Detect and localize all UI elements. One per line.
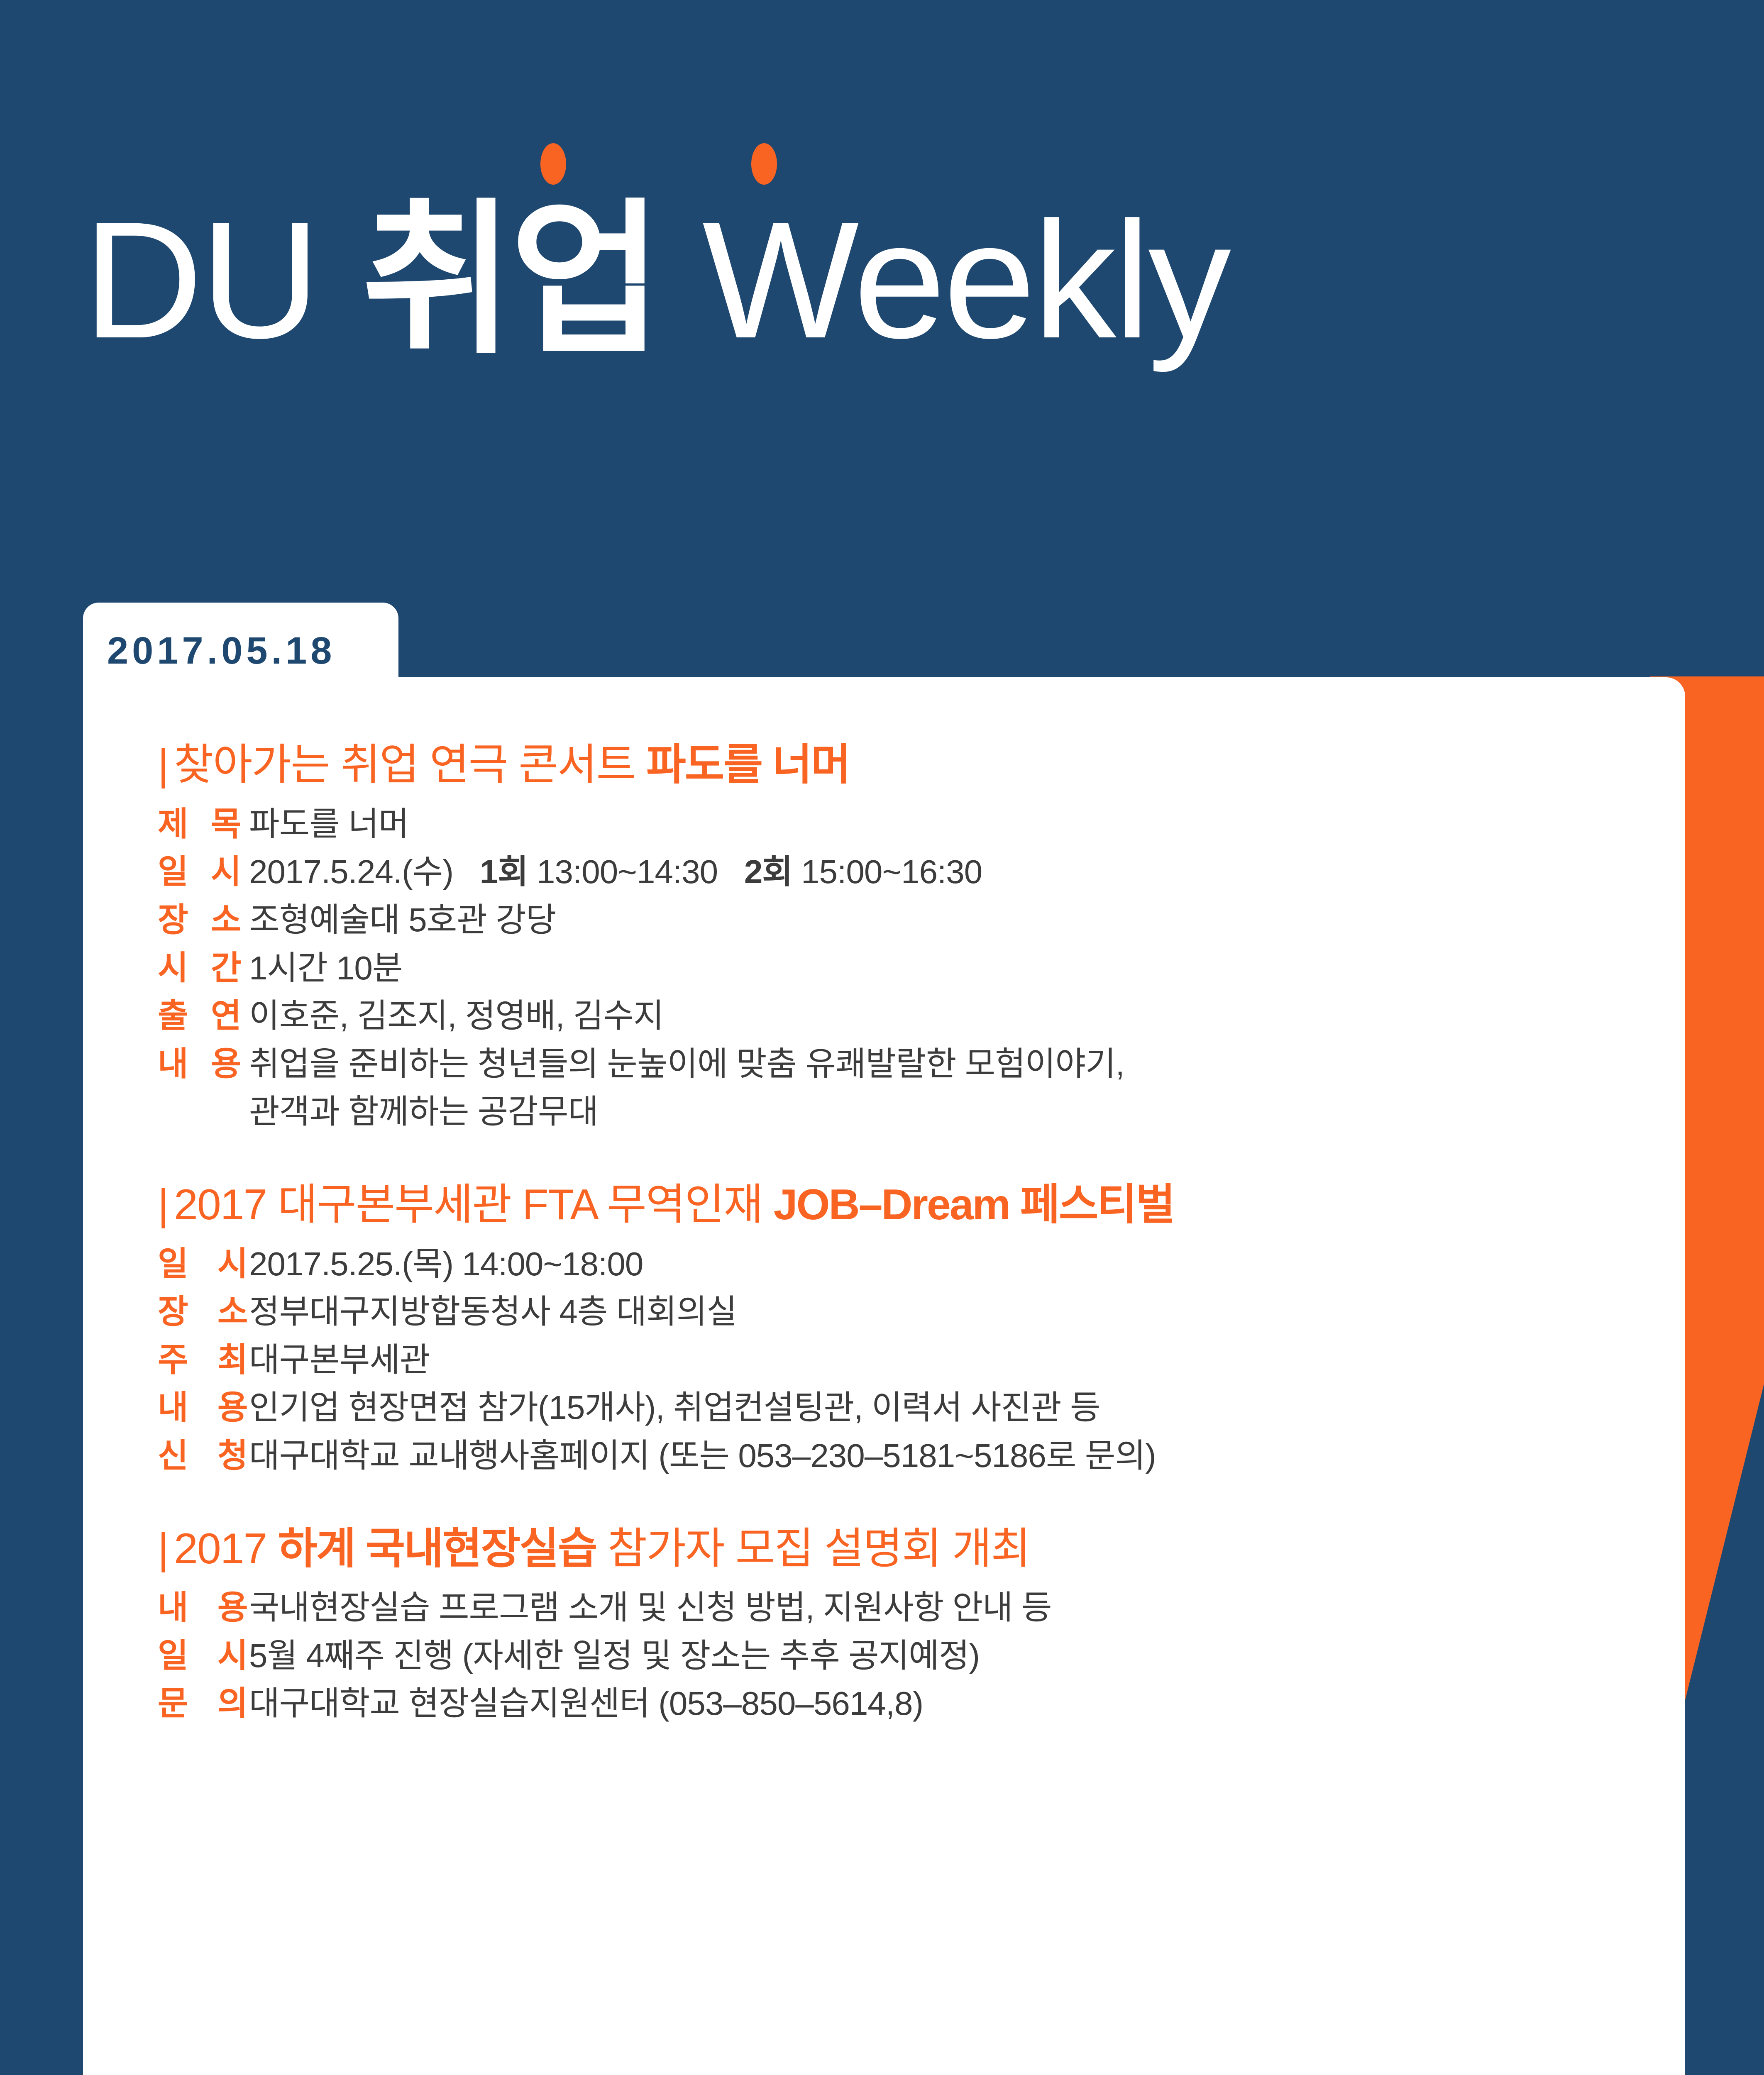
section-theatre-concert: |찾아가는 취업 연극 콘서트 파도를 너머 제 목 파도를 너머 일 시 20… [158,740,1635,1130]
row-application: 신 청 대구대학교 교내행사홈페이지 (또는 053–230–5181~5186… [158,1437,1635,1474]
row-label-venue: 장 소 [158,1293,249,1330]
wordmark-title: DU 취업 Weekly [83,197,1229,363]
row-description: 내 용 국내현장실습 프로그램 소개 및 신청 방법, 지원사항 안내 등 [158,1589,1635,1626]
row-cast: 출 연 이호준, 김조지, 정영배, 김수지 [158,997,1635,1035]
row-host: 주 최 대구본부세관 [158,1341,1635,1379]
row-value-host: 대구본부세관 [249,1341,430,1379]
datetime-session-2-time: 15:00~16:30 [801,853,982,890]
section-3-title-pre: 2017 [174,1525,278,1573]
row-value-venue: 정부대구지방합동청사 4층 대회의실 [249,1293,737,1330]
row-value-contact: 대구대학교 현장실습지원센터 (053–850–5614,8) [249,1685,923,1722]
row-label-description: 내 용 [158,1045,249,1083]
section-3-title-post: 참가자 모집 설명회 개최 [596,1525,1030,1573]
row-label-datetime: 일 시 [158,1637,249,1675]
row-value-datetime: 2017.5.24.(수) 1회 13:00~14:30 2회 15:00~16… [249,853,982,891]
orange-dot-right-icon [751,143,777,185]
row-value-application: 대구대학교 교내행사홈페이지 (또는 053–230–5181~5186로 문의… [249,1437,1156,1474]
row-value-datetime: 2017.5.25.(목) 14:00~18:00 [249,1245,643,1283]
section-job-dream-festival: |2017 대구본부세관 FTA 무역인재 JOB–Dream 페스티벌 일 시… [158,1179,1635,1474]
row-label-cast: 출 연 [158,997,249,1035]
datetime-session-1-time: 13:00~14:30 [537,853,718,890]
row-duration: 시 간 1시간 10분 [158,950,1635,987]
row-label-venue: 장 소 [158,901,249,939]
row-label-title: 제 목 [158,806,249,843]
row-venue: 장 소 조형예술대 5호관 강당 [158,901,1635,939]
row-value-description: 국내현장실습 프로그램 소개 및 신청 방법, 지원사항 안내 등 [249,1589,1051,1626]
row-value-description: 취업을 준비하는 청년들의 눈높이에 맞춤 유쾌발랄한 모험이야기, [249,1045,1124,1083]
poster-header: DU 취업 Weekly [0,0,1764,581]
issue-date: 2017.05.18 [107,632,335,670]
row-description: 내 용 취업을 준비하는 청년들의 눈높이에 맞춤 유쾌발랄한 모험이야기, [158,1045,1635,1083]
section-1-bar: | [158,741,168,789]
section-2-title-regular: 2017 대구본부세관 FTA 무역인재 [174,1181,774,1229]
section-1-title-regular: 찾아가는 취업 연극 콘서트 [174,741,646,789]
section-2-bar: | [158,1181,168,1229]
poster-root: DU 취업 Weekly 2017.05.18 |찾아가는 취업 연극 콘서트 … [0,0,1764,2075]
row-label-datetime: 일 시 [158,1245,249,1283]
row-value-cast: 이호준, 김조지, 정영배, 김수지 [249,997,664,1035]
row-value-description: 인기업 현장면접 참가(15개사), 취업컨설팅관, 이력서 사진관 등 [249,1389,1100,1426]
row-venue: 장 소 정부대구지방합동청사 4층 대회의실 [158,1293,1635,1330]
row-label-contact: 문 의 [158,1685,249,1722]
row-label-description: 내 용 [158,1389,249,1426]
row-value-duration: 1시간 10분 [249,950,403,987]
datetime-date: 2017.5.24.(수) [249,853,453,890]
row-label-application: 신 청 [158,1437,249,1474]
row-datetime: 일 시 5월 4째주 진행 (자세한 일정 및 장소는 추후 공지예정) [158,1637,1635,1675]
row-contact: 문 의 대구대학교 현장실습지원센터 (053–850–5614,8) [158,1685,1635,1722]
row-value-datetime: 5월 4째주 진행 (자세한 일정 및 장소는 추후 공지예정) [249,1637,980,1675]
content-card: |찾아가는 취업 연극 콘서트 파도를 너머 제 목 파도를 너머 일 시 20… [83,677,1685,2075]
wordmark-weekly: Weekly [659,187,1229,373]
wordmark-du: DU [83,187,362,373]
section-1-title: |찾아가는 취업 연극 콘서트 파도를 너머 [158,740,1635,791]
section-1-title-bold: 파도를 너머 [646,741,849,789]
section-3-title: |2017 하계 국내현장실습 참가자 모집 설명회 개최 [158,1523,1635,1575]
section-2-title-bold: JOB–Dream 페스티벌 [774,1181,1174,1229]
orange-dot-left-icon [540,143,566,185]
row-label-host: 주 최 [158,1341,249,1379]
row-label-duration: 시 간 [158,950,249,987]
section-3-title-bold: 하계 국내현장실습 [278,1525,596,1573]
section-2-title: |2017 대구본부세관 FTA 무역인재 JOB–Dream 페스티벌 [158,1179,1635,1230]
row-title: 제 목 파도를 너머 [158,806,1635,843]
row-description: 내 용 인기업 현장면접 참가(15개사), 취업컨설팅관, 이력서 사진관 등 [158,1389,1635,1426]
row-label-datetime: 일 시 [158,853,249,891]
section-internship-briefing: |2017 하계 국내현장실습 참가자 모집 설명회 개최 내 용 국내현장실습… [158,1523,1635,1723]
section-3-bar: | [158,1525,168,1573]
content-card-inner: |찾아가는 취업 연극 콘서트 파도를 너머 제 목 파도를 너머 일 시 20… [158,740,1635,1722]
row-description-continuation: 관객과 함께하는 공감무대 [249,1093,1635,1130]
row-datetime: 일 시 2017.5.25.(목) 14:00~18:00 [158,1245,1635,1283]
datetime-session-1-label: 1회 [480,853,528,890]
row-value-title: 파도를 너머 [249,806,408,843]
row-label-description: 내 용 [158,1589,249,1626]
wordmark-chwieop: 취업 [362,187,659,373]
date-tab: 2017.05.18 [83,603,398,702]
row-value-venue: 조형예술대 5호관 강당 [249,901,556,939]
datetime-session-2-label: 2회 [744,853,792,890]
row-datetime: 일 시 2017.5.24.(수) 1회 13:00~14:30 2회 15:0… [158,853,1635,891]
